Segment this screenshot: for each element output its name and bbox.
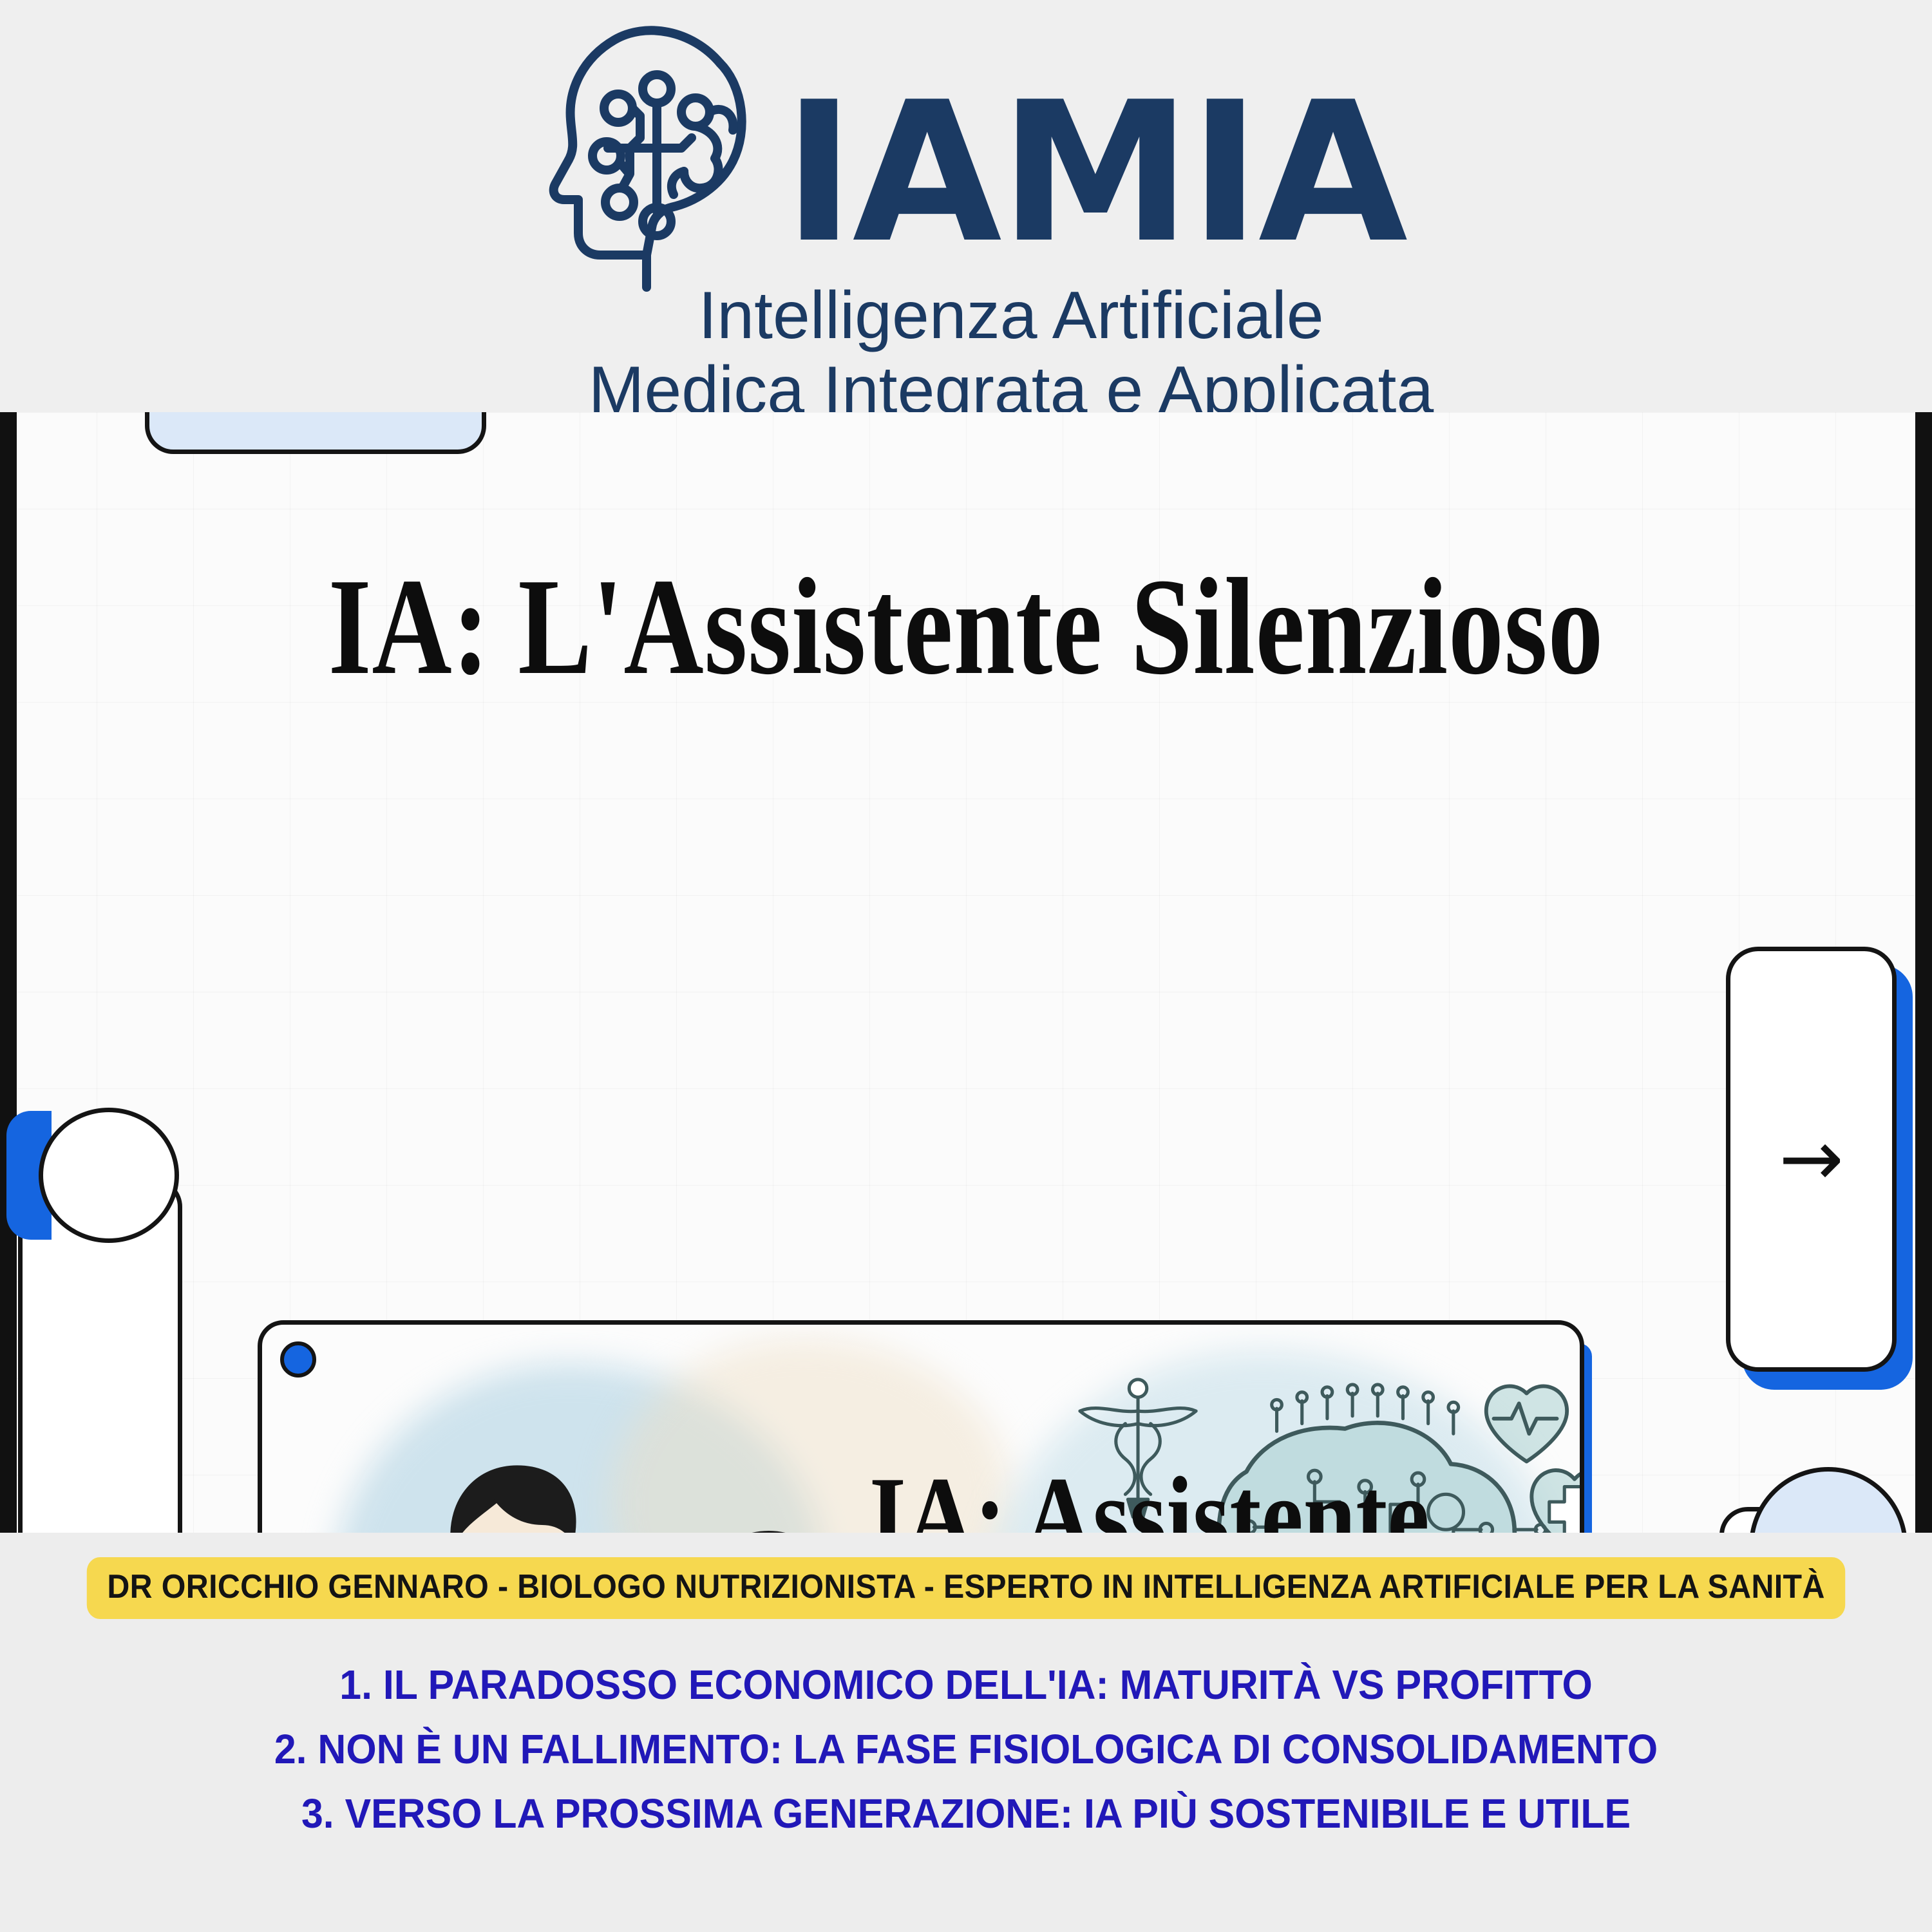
decor-top-tab: [145, 412, 486, 454]
topic-list: 1. IL PARADOSSO ECONOMICO DELL'IA: MATUR…: [0, 1641, 1932, 1857]
next-button[interactable]: →: [1726, 947, 1897, 1372]
inner-card-heading: IA: Assistente: [869, 1460, 1430, 1533]
topic-item-2: 2. NON È UN FALLIMENTO: LA FASE FISIOLOG…: [48, 1728, 1884, 1770]
heart-ecg-icon: [1486, 1386, 1567, 1461]
brand-header: IAMIA Intelligenza Artificiale Medica In…: [0, 0, 1932, 412]
topic-item-1: 1. IL PARADOSSO ECONOMICO DELL'IA: MATUR…: [48, 1664, 1884, 1705]
card-status-dot: [280, 1341, 316, 1378]
decor-left-circle: [39, 1108, 179, 1243]
brand-name: IAMIA: [783, 81, 1405, 265]
slide-title: IA: L'Assistente Silenzioso: [193, 557, 1739, 696]
two-doctors-handshake-illustration: [333, 1402, 913, 1533]
author-badge: DR ORICCHIO GENNARO - BIOLOGO NUTRIZIONI…: [87, 1557, 1846, 1619]
brand-top-row: IAMIA: [527, 12, 1405, 295]
heart-cross-icon: [1531, 1470, 1584, 1533]
arrow-right-icon: →: [1779, 1121, 1844, 1198]
right-edge-bar: [1915, 412, 1932, 1533]
left-edge-bar: [0, 412, 17, 1533]
brain-head-circuit-icon: [527, 12, 772, 295]
topic-item-3: 3. VERSO LA PROSSIMA GENERAZIONE: IA PIÙ…: [48, 1793, 1884, 1834]
brand-lockup: IAMIA Intelligenza Artificiale Medica In…: [498, 12, 1434, 428]
brand-tagline: Intelligenza Artificiale Medica Integrat…: [589, 278, 1434, 428]
poster-canvas: IAMIA Intelligenza Artificiale Medica In…: [0, 0, 1932, 1932]
footer: DR ORICCHIO GENNARO - BIOLOGO NUTRIZIONI…: [0, 1533, 1932, 1932]
inner-card: IA: Assistente: [258, 1320, 1584, 1533]
brand-tagline-line1: Intelligenza Artificiale: [589, 278, 1434, 353]
slide-poster: → IA: L'Assistente Silenzioso: [0, 412, 1932, 1533]
